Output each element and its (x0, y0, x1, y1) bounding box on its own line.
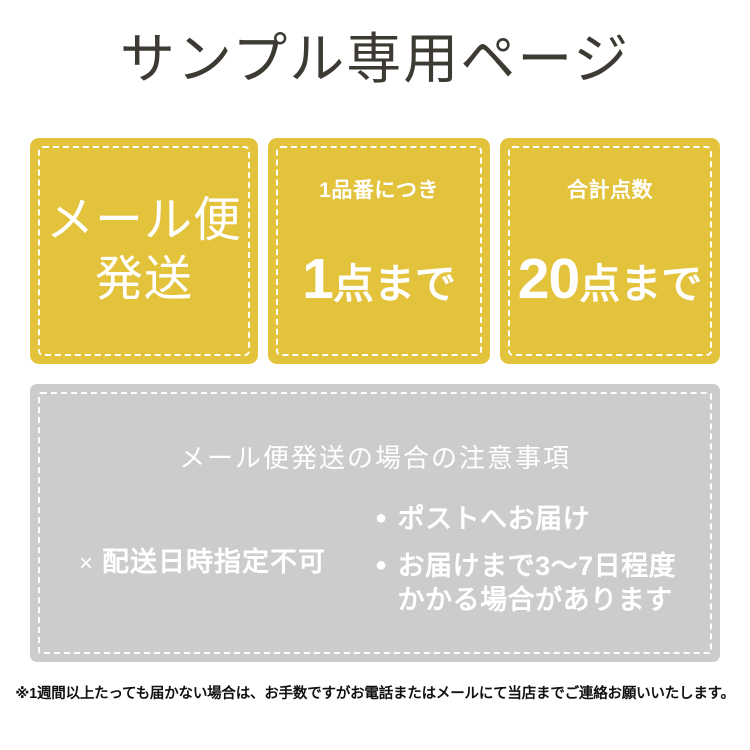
per-item-number: 1 (302, 251, 333, 308)
bullet-text: お届けまで3〜7日程度 かかる場合があります (398, 549, 677, 618)
card-content: 合計点数 20 点まで (500, 138, 720, 364)
sample-shipping-banner: サンプル専用ページ メール便 発送 1品番につき 1 点まで 合計点数 (0, 0, 750, 750)
card-total-limit: 合計点数 20 点まで (500, 138, 720, 364)
bullet-dot-icon: ● (375, 549, 388, 581)
per-item-unit: 点まで (333, 264, 456, 305)
total-limit-unit: 点まで (579, 264, 702, 305)
per-item-caption: 1品番につき (319, 180, 439, 201)
card-content: メール便 発送 (30, 138, 258, 364)
page-title: サンプル専用ページ (0, 28, 750, 91)
card-content: 1品番につき 1 点まで (268, 138, 490, 364)
list-item: ● お届けまで3〜7日程度 かかる場合があります (375, 549, 720, 618)
notice-bullet-list: ● ポストへお届け ● お届けまで3〜7日程度 かかる場合があります (375, 502, 720, 618)
bullet-text: ポストへお届け (398, 502, 591, 537)
list-item: ● ポストへお届け (375, 502, 720, 537)
shipping-method-line2: 発送 (95, 251, 193, 310)
cross-icon: × (79, 550, 94, 577)
notice-columns: ×配送日時指定不可 ● ポストへお届け ● お届けまで3〜7日程度 かかる場合が… (30, 502, 720, 618)
per-item-value: 1 点まで (302, 251, 456, 308)
feature-card-group: メール便 発送 1品番につき 1 点まで 合計点数 20 点まで (30, 138, 720, 364)
footnote: ※1週間以上たっても届かない場合は、お手数ですがお電話またはメールにて当店までご… (0, 682, 750, 703)
card-shipping-method: メール便 発送 (30, 138, 258, 364)
notice-restriction-label: 配送日時指定不可 (102, 547, 326, 577)
notice-panel: メール便発送の場合の注意事項 ×配送日時指定不可 ● ポストへお届け ● お届け… (30, 384, 720, 662)
total-limit-number: 20 (518, 251, 579, 308)
bullet-dot-icon: ● (375, 502, 388, 534)
shipping-method-line1: メール便 (46, 192, 242, 251)
total-limit-value: 20 点まで (518, 251, 702, 308)
total-limit-caption: 合計点数 (567, 180, 653, 201)
notice-restriction-item: ×配送日時指定不可 (30, 540, 375, 579)
card-per-item-limit: 1品番につき 1 点まで (268, 138, 490, 364)
notice-heading: メール便発送の場合の注意事項 (30, 438, 720, 475)
